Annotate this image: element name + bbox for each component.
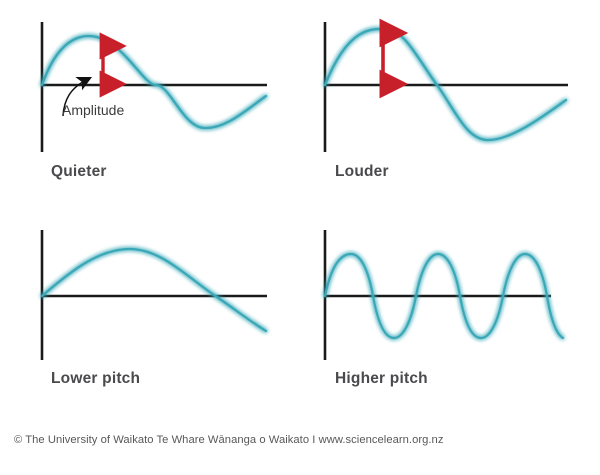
diagram-canvas: [0, 0, 600, 470]
panel-label-lower-pitch: Lower pitch: [51, 370, 140, 388]
sound-wave-diagram: Quieter Louder Lower pitch Higher pitch …: [0, 0, 600, 470]
panel-label-higher-pitch: Higher pitch: [335, 370, 428, 388]
panel-label-quieter: Quieter: [51, 163, 107, 181]
copyright-caption: © The University of Waikato Te Whare Wān…: [14, 434, 443, 446]
canvas-background: [0, 0, 600, 470]
panel-label-louder: Louder: [335, 163, 389, 181]
annotation-label-amplitude: Amplitude: [62, 102, 124, 118]
